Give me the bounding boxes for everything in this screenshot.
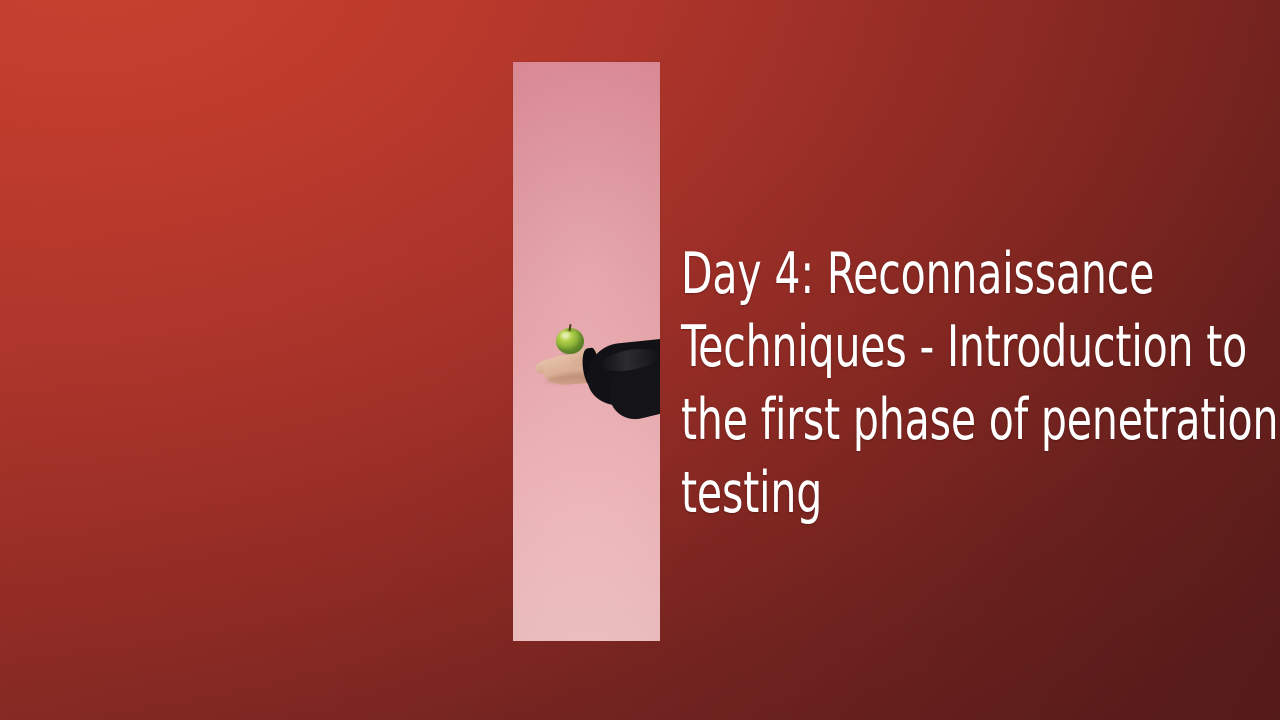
- picture-panel: [513, 62, 660, 641]
- title-slide: Day 4: Reconnaissance Techniques - Intro…: [0, 0, 1280, 720]
- apple-highlight: [561, 332, 570, 339]
- slide-title: Day 4: Reconnaissance Techniques - Intro…: [681, 238, 1280, 530]
